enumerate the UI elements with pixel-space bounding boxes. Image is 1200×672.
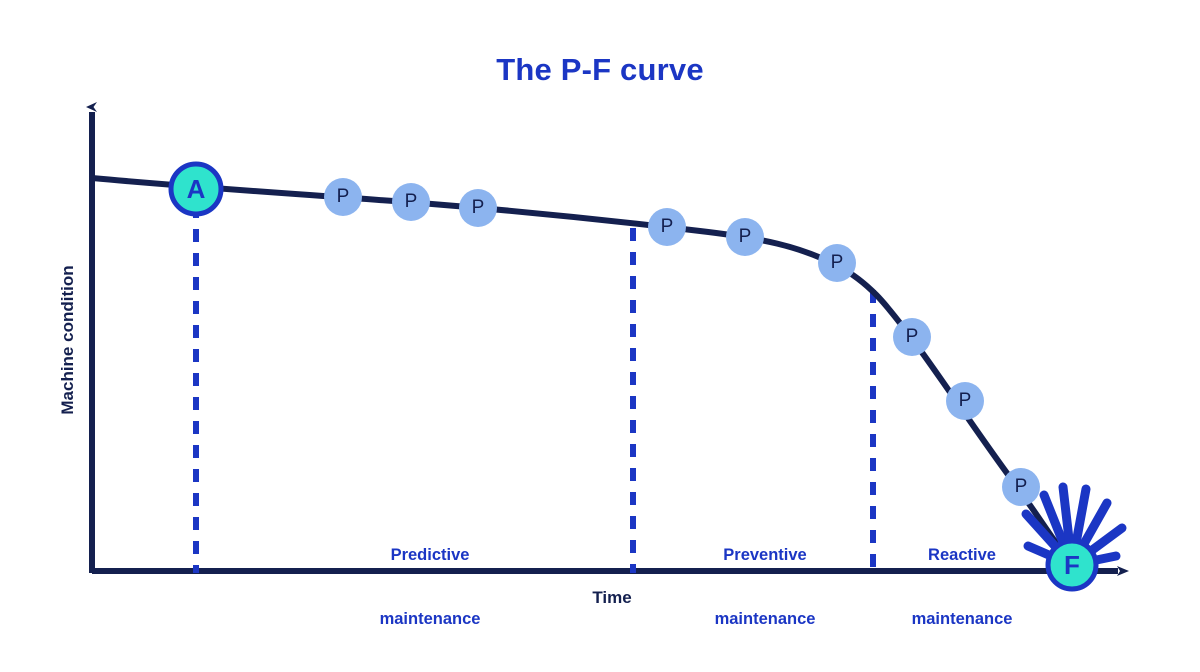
p-marker[interactable]: [324, 178, 362, 216]
zone-label-preventive-line2: maintenance: [665, 609, 865, 630]
y-axis-label: Machine condition: [58, 220, 78, 460]
page-title: The P-F curve: [0, 52, 1200, 88]
pf-curve-diagram: The P-F curve Machine condition Time Pre…: [0, 0, 1200, 627]
p-marker[interactable]: [726, 218, 764, 256]
point-f-marker[interactable]: [1048, 541, 1096, 589]
zone-label-predictive-line1: Predictive: [330, 545, 530, 566]
p-marker[interactable]: [893, 318, 931, 356]
zone-label-reactive: Reactive maintenance: [872, 503, 1052, 672]
zone-label-reactive-line1: Reactive: [872, 545, 1052, 566]
p-marker-group: [324, 178, 1040, 506]
p-marker[interactable]: [946, 382, 984, 420]
p-marker[interactable]: [1002, 468, 1040, 506]
p-marker[interactable]: [648, 208, 686, 246]
zone-label-predictive-line2: maintenance: [330, 609, 530, 630]
p-marker[interactable]: [818, 244, 856, 282]
zone-label-preventive: Preventive maintenance: [665, 503, 865, 672]
p-marker[interactable]: [459, 189, 497, 227]
p-marker[interactable]: [392, 183, 430, 221]
zone-label-reactive-line2: maintenance: [872, 609, 1052, 630]
zone-label-preventive-line1: Preventive: [665, 545, 865, 566]
zone-label-predictive: Predictive maintenance: [330, 503, 530, 672]
point-a-marker[interactable]: [171, 164, 221, 214]
